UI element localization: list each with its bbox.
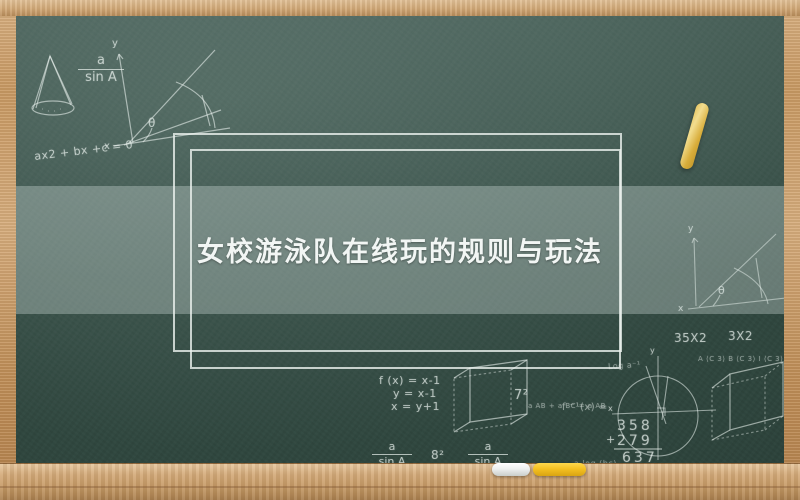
chalkboard-banner: a sin A y x θ ax2 + bx +c = 0 (0, 0, 800, 500)
page-title: 女校游泳队在线玩的规则与玩法 (16, 230, 784, 269)
chalk-stick-white-tray (492, 463, 530, 476)
wooden-frame-top (0, 0, 800, 16)
wooden-chalk-tray (0, 463, 800, 500)
chalk-stick-yellow-tray (533, 463, 586, 476)
chalkboard-surface: a sin A y x θ ax2 + bx +c = 0 (16, 16, 784, 464)
